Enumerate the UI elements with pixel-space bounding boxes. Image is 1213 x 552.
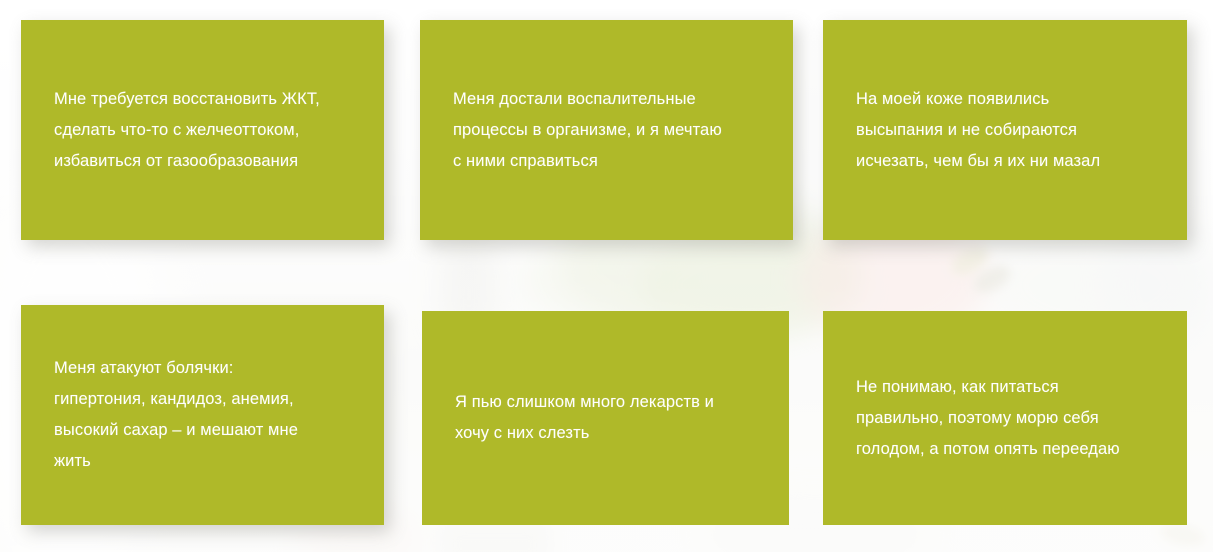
problem-card-eating-habits[interactable]: Не понимаю, как питаться правильно, поэт… bbox=[823, 311, 1187, 525]
problem-card-too-many-meds[interactable]: Я пью слишком много лекарств и хочу с ни… bbox=[422, 311, 789, 525]
problem-card-skin-rash[interactable]: На моей коже появились высыпания и не со… bbox=[823, 20, 1187, 240]
problem-card-chronic-illness[interactable]: Меня атакуют болячки: гипертония, кандид… bbox=[21, 305, 384, 525]
problem-card-text: Меня достали воспалительные процессы в о… bbox=[453, 84, 722, 177]
problem-card-text: На моей коже появились высыпания и не со… bbox=[856, 84, 1100, 177]
problem-card-text: Не понимаю, как питаться правильно, поэт… bbox=[856, 372, 1120, 465]
problem-cards-grid: Мне требуется восстановить ЖКТ, сделать … bbox=[0, 0, 1213, 552]
problem-card-text: Мне требуется восстановить ЖКТ, сделать … bbox=[54, 84, 320, 177]
problem-card-text: Я пью слишком много лекарств и хочу с ни… bbox=[455, 387, 714, 449]
problem-card-text: Меня атакуют болячки: гипертония, кандид… bbox=[54, 353, 298, 477]
problem-card-gut-recovery[interactable]: Мне требуется восстановить ЖКТ, сделать … bbox=[21, 20, 384, 240]
problem-card-inflammation[interactable]: Меня достали воспалительные процессы в о… bbox=[420, 20, 793, 240]
